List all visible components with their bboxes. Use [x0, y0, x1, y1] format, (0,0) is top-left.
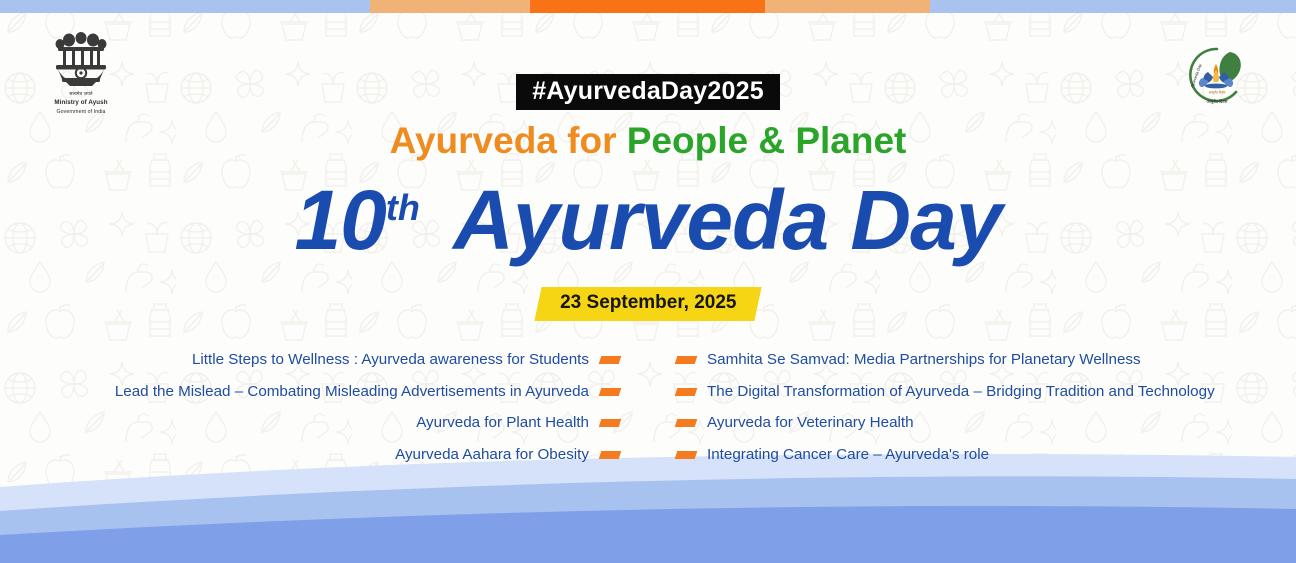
emblem-ministry-line: Ministry of Ayush — [36, 99, 126, 108]
dash-bullet-icon — [675, 388, 698, 396]
india-state-emblem-icon — [36, 28, 126, 90]
bottom-wave-decoration — [0, 453, 1296, 563]
strip-segment-orange-center — [530, 0, 765, 13]
hashtag-row: #AyurvedaDay2025 — [0, 74, 1296, 110]
list-item: Ayurveda for Veterinary Health — [676, 413, 914, 434]
strip-segment-light-orange-left — [370, 0, 530, 13]
list-item: Ayurveda for Plant Health — [416, 413, 620, 434]
dash-bullet-icon — [599, 356, 622, 364]
theme-label: Little Steps to Wellness : Ayurveda awar… — [192, 350, 589, 371]
dash-bullet-icon — [675, 356, 698, 364]
emblem-government-line: Government of India — [36, 109, 126, 117]
page-title: 10th Ayurveda Day — [0, 178, 1296, 262]
theme-label: Lead the Mislead – Combating Misleading … — [115, 382, 589, 403]
emblem-hindi-motto: सत्यमेव जयते — [36, 91, 126, 98]
dash-bullet-icon — [599, 451, 622, 459]
theme-label: Integrating Cancer Care – Ayurveda's rol… — [707, 445, 989, 466]
dash-bullet-icon — [675, 419, 698, 427]
tagline: Ayurveda for People & Planet — [0, 122, 1296, 161]
list-item: Little Steps to Wellness : Ayurveda awar… — [192, 350, 620, 371]
list-item: Lead the Mislead – Combating Misleading … — [115, 382, 620, 403]
list-item: Samhita Se Samvad: Media Partnerships fo… — [676, 350, 1141, 371]
theme-label: Ayurveda for Plant Health — [416, 413, 589, 434]
theme-label: Samhita Se Samvad: Media Partnerships fo… — [707, 350, 1141, 371]
theme-column-right: Samhita Se Samvad: Media Partnerships fo… — [648, 350, 1296, 465]
title-main: Ayurveda Day — [453, 173, 1001, 267]
date-badge: 23 September, 2025 — [534, 287, 762, 321]
hashtag-badge: #AyurvedaDay2025 — [516, 74, 780, 110]
list-item: Ayurveda Aahara for Obesity — [395, 445, 620, 466]
title-number: 10 — [294, 173, 385, 267]
tagline-green-part: People & Planet — [627, 120, 907, 161]
theme-column-left: Little Steps to Wellness : Ayurveda awar… — [0, 350, 648, 465]
list-item: The Digital Transformation of Ayurveda –… — [676, 382, 1215, 403]
title-ordinal: th — [386, 187, 420, 228]
strip-segment-blue-left — [0, 0, 370, 13]
theme-label: Ayurveda Aahara for Obesity — [395, 445, 589, 466]
dash-bullet-icon — [599, 419, 622, 427]
dash-bullet-icon — [599, 388, 622, 396]
ayurveda-day-logo-icon: आयुर्वेद दिवस आयुर्वेद दिवस Ayurveda Day — [1186, 44, 1248, 106]
theme-label: The Digital Transformation of Ayurveda –… — [707, 382, 1215, 403]
date-row: 23 September, 2025 — [0, 287, 1296, 321]
tagline-orange-part: Ayurveda for — [390, 120, 627, 161]
logo-inner-label: आयुर्वेद दिवस — [1209, 90, 1227, 95]
ministry-of-ayush-emblem: सत्यमेव जयते Ministry of Ayush Governmen… — [36, 28, 126, 116]
list-item: Integrating Cancer Care – Ayurveda's rol… — [676, 445, 989, 466]
strip-segment-blue-right — [930, 0, 1296, 13]
strip-segment-light-orange-right — [765, 0, 930, 13]
theme-list: Little Steps to Wellness : Ayurveda awar… — [0, 350, 1296, 465]
dash-bullet-icon — [675, 451, 698, 459]
theme-label: Ayurveda for Veterinary Health — [707, 413, 914, 434]
date-badge-label: 23 September, 2025 — [560, 293, 736, 314]
top-color-strip — [0, 0, 1296, 13]
logo-sub-text: आयुर्वेद दिवस — [1207, 99, 1228, 105]
ayurveda-day-banner: सत्यमेव जयते Ministry of Ayush Governmen… — [0, 0, 1296, 563]
